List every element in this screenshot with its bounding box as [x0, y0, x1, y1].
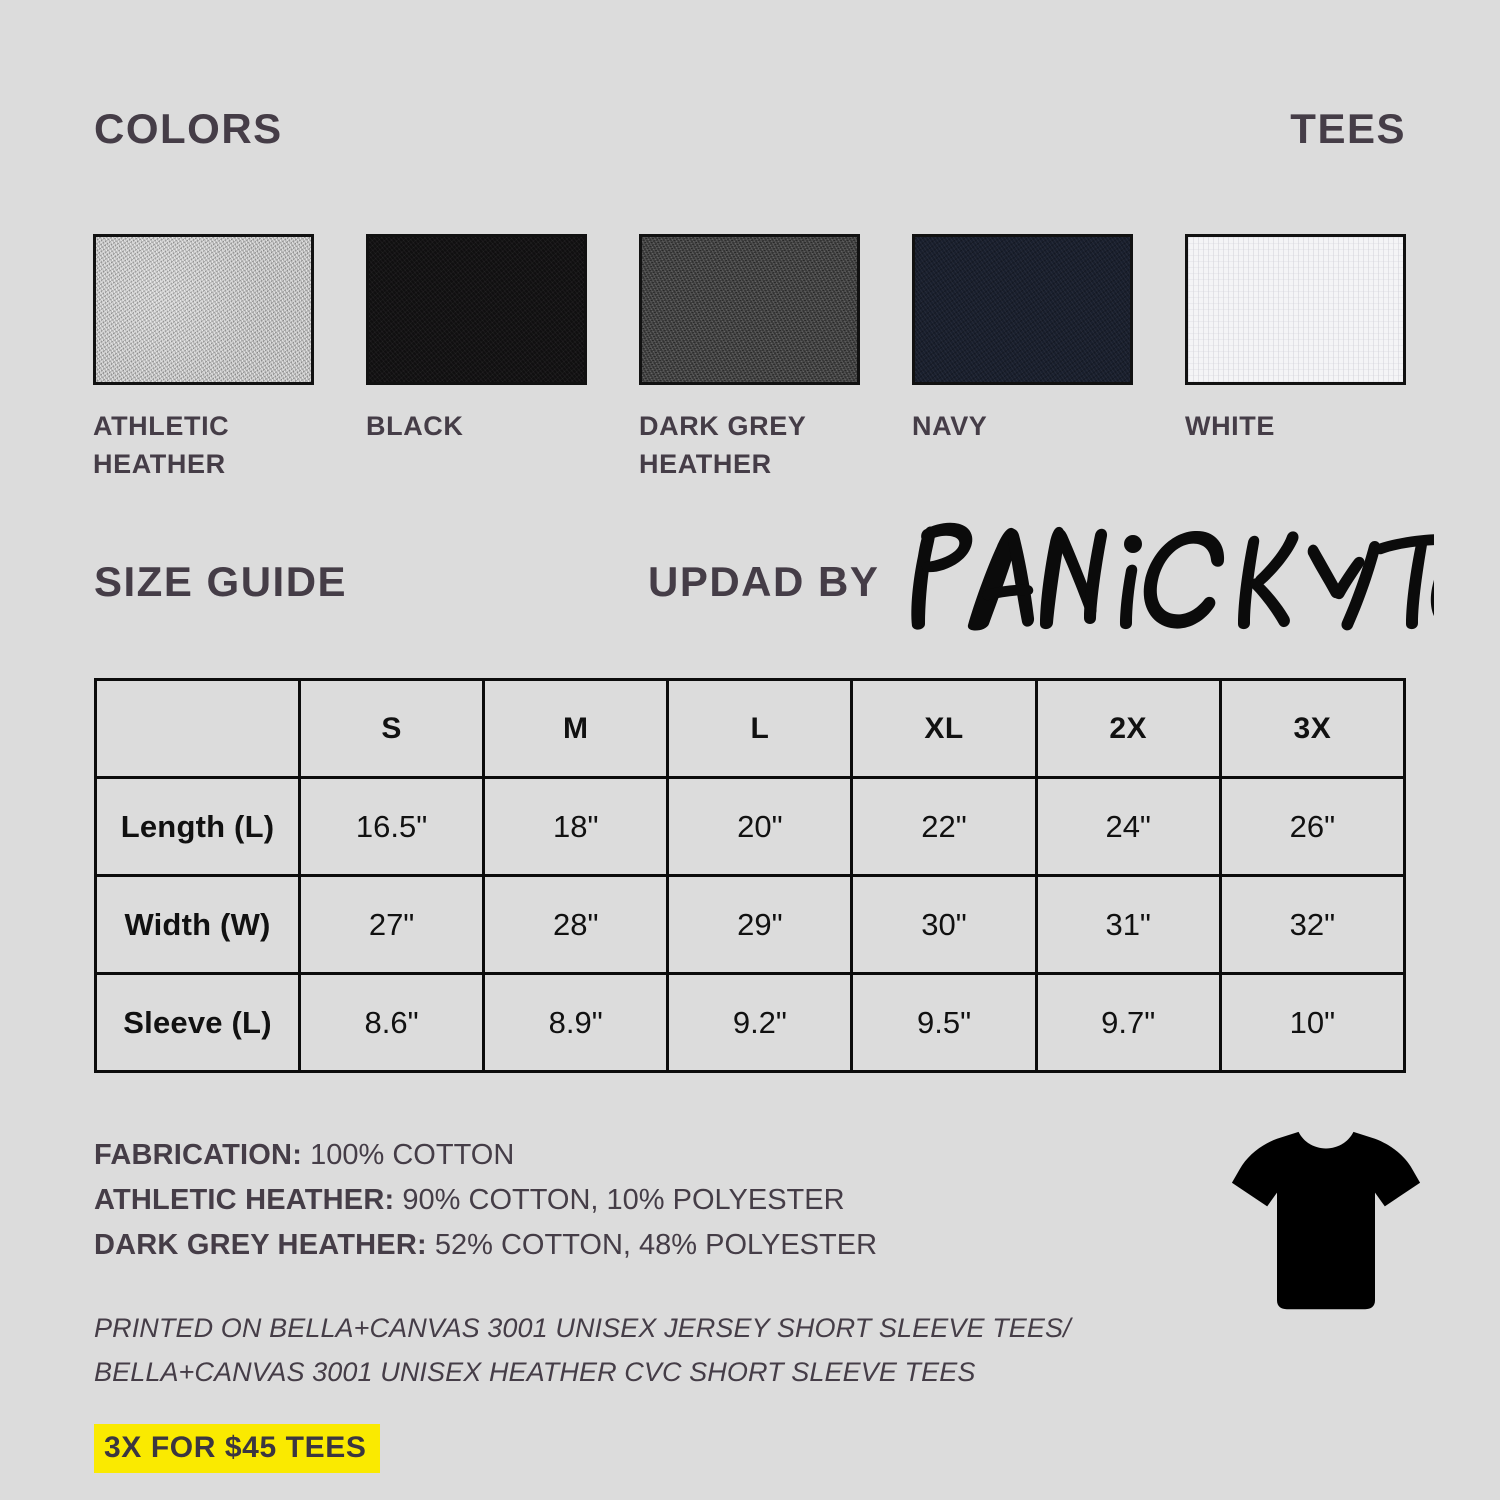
- fabric-texture: [642, 237, 857, 382]
- cell-length-3x: 26": [1220, 778, 1404, 876]
- fabric-texture: [915, 237, 1130, 382]
- cell-sleeve-s: 8.6": [300, 974, 484, 1072]
- row-label-width: Width (W): [96, 876, 300, 974]
- swatch-label: DARK GREY HEATHER: [639, 407, 854, 484]
- table-corner-cell: [96, 680, 300, 778]
- fabric-texture: [369, 237, 584, 382]
- fabrication-line-athletic-heather: ATHLETIC HEATHER: 90% COTTON, 10% POLYES…: [94, 1178, 877, 1223]
- cell-sleeve-m: 8.9": [484, 974, 668, 1072]
- cell-width-m: 28": [484, 876, 668, 974]
- cell-length-xl: 22": [852, 778, 1036, 876]
- swatch-item-white[interactable]: WHITE: [1185, 234, 1408, 484]
- fabrication-value: 100% COTTON: [310, 1139, 514, 1171]
- cell-length-2x: 24": [1036, 778, 1220, 876]
- cell-sleeve-xl: 9.5": [852, 974, 1036, 1072]
- fabric-texture: [96, 237, 311, 382]
- swatch-chip-dark-grey-heather[interactable]: [639, 234, 860, 385]
- table-col-header-m: M: [484, 680, 668, 778]
- table-row-length: Length (L) 16.5" 18" 20" 22" 24" 26": [96, 778, 1405, 876]
- colors-heading: COLORS: [94, 108, 283, 150]
- table-row-width: Width (W) 27" 28" 29" 30" 31" 32": [96, 876, 1405, 974]
- swatch-label: WHITE: [1185, 407, 1400, 445]
- cell-length-m: 18": [484, 778, 668, 876]
- printed-on-note-line-2: BELLA+CANVAS 3001 UNISEX HEATHER CVC SHO…: [94, 1351, 1071, 1395]
- fabrication-line-fabrication: FABRICATION: 100% COTTON: [94, 1133, 877, 1178]
- table-row-sleeve: Sleeve (L) 8.6" 8.9" 9.2" 9.5" 9.7" 10": [96, 974, 1405, 1072]
- swatch-label: NAVY: [912, 407, 1127, 445]
- updated-by-label: UPDAD BY: [648, 558, 879, 606]
- swatch-chip-black[interactable]: [366, 234, 587, 385]
- fabrication-label: FABRICATION:: [94, 1139, 302, 1171]
- table-header-row: S M L XL 2X 3X: [96, 680, 1405, 778]
- swatch-chip-athletic-heather[interactable]: [93, 234, 314, 385]
- swatch-label: ATHLETIC HEATHER: [93, 407, 308, 484]
- cell-width-2x: 31": [1036, 876, 1220, 974]
- row-label-length: Length (L): [96, 778, 300, 876]
- size-guide-table: S M L XL 2X 3X Length (L) 16.5" 18" 20" …: [94, 678, 1406, 1073]
- cell-sleeve-l: 9.2": [668, 974, 852, 1072]
- swatch-item-dark-grey-heather[interactable]: DARK GREY HEATHER: [639, 234, 862, 484]
- cell-width-xl: 30": [852, 876, 1036, 974]
- cell-width-l: 29": [668, 876, 852, 974]
- panickytom-brand-logo: [894, 500, 1434, 640]
- cell-length-l: 20": [668, 778, 852, 876]
- table-col-header-l: L: [668, 680, 852, 778]
- fabrication-details: FABRICATION: 100% COTTON ATHLETIC HEATHE…: [94, 1133, 877, 1268]
- size-guide-header: SIZE GUIDE UPDAD BY: [94, 552, 1420, 662]
- printed-on-note-line-1: PRINTED ON BELLA+CANVAS 3001 UNISEX JERS…: [94, 1307, 1071, 1351]
- cell-length-s: 16.5": [300, 778, 484, 876]
- fabrication-line-dark-grey-heather: DARK GREY HEATHER: 52% COTTON, 48% POLYE…: [94, 1223, 877, 1268]
- swatch-label: BLACK: [366, 407, 581, 445]
- swatch-item-navy[interactable]: NAVY: [912, 234, 1135, 484]
- swatch-item-athletic-heather[interactable]: ATHLETIC HEATHER: [93, 234, 316, 484]
- table-col-header-2x: 2X: [1036, 680, 1220, 778]
- cell-width-s: 27": [300, 876, 484, 974]
- color-swatch-strip: ATHLETIC HEATHER BLACK DARK GREY HEATHER…: [93, 234, 1408, 484]
- page-header: COLORS TEES: [94, 108, 1406, 150]
- printed-on-note: PRINTED ON BELLA+CANVAS 3001 UNISEX JERS…: [94, 1307, 1071, 1394]
- fabrication-value: 90% COTTON, 10% POLYESTER: [402, 1184, 844, 1216]
- fabrication-label: ATHLETIC HEATHER:: [94, 1184, 394, 1216]
- swatch-chip-navy[interactable]: [912, 234, 1133, 385]
- table-col-header-xl: XL: [852, 680, 1036, 778]
- tshirt-icon: [1228, 1122, 1424, 1322]
- size-guide-heading: SIZE GUIDE: [94, 558, 347, 606]
- row-label-sleeve: Sleeve (L): [96, 974, 300, 1072]
- swatch-item-black[interactable]: BLACK: [366, 234, 589, 484]
- cell-sleeve-3x: 10": [1220, 974, 1404, 1072]
- swatch-chip-white[interactable]: [1185, 234, 1406, 385]
- fabrication-value: 52% COTTON, 48% POLYESTER: [435, 1229, 877, 1261]
- promo-badge[interactable]: 3X FOR $45 TEES: [94, 1424, 380, 1473]
- table-col-header-3x: 3X: [1220, 680, 1404, 778]
- fabrication-label: DARK GREY HEATHER:: [94, 1229, 427, 1261]
- table-col-header-s: S: [300, 680, 484, 778]
- cell-width-3x: 32": [1220, 876, 1404, 974]
- cell-sleeve-2x: 9.7": [1036, 974, 1220, 1072]
- tees-heading: TEES: [1290, 108, 1406, 150]
- fabric-texture: [1188, 237, 1403, 382]
